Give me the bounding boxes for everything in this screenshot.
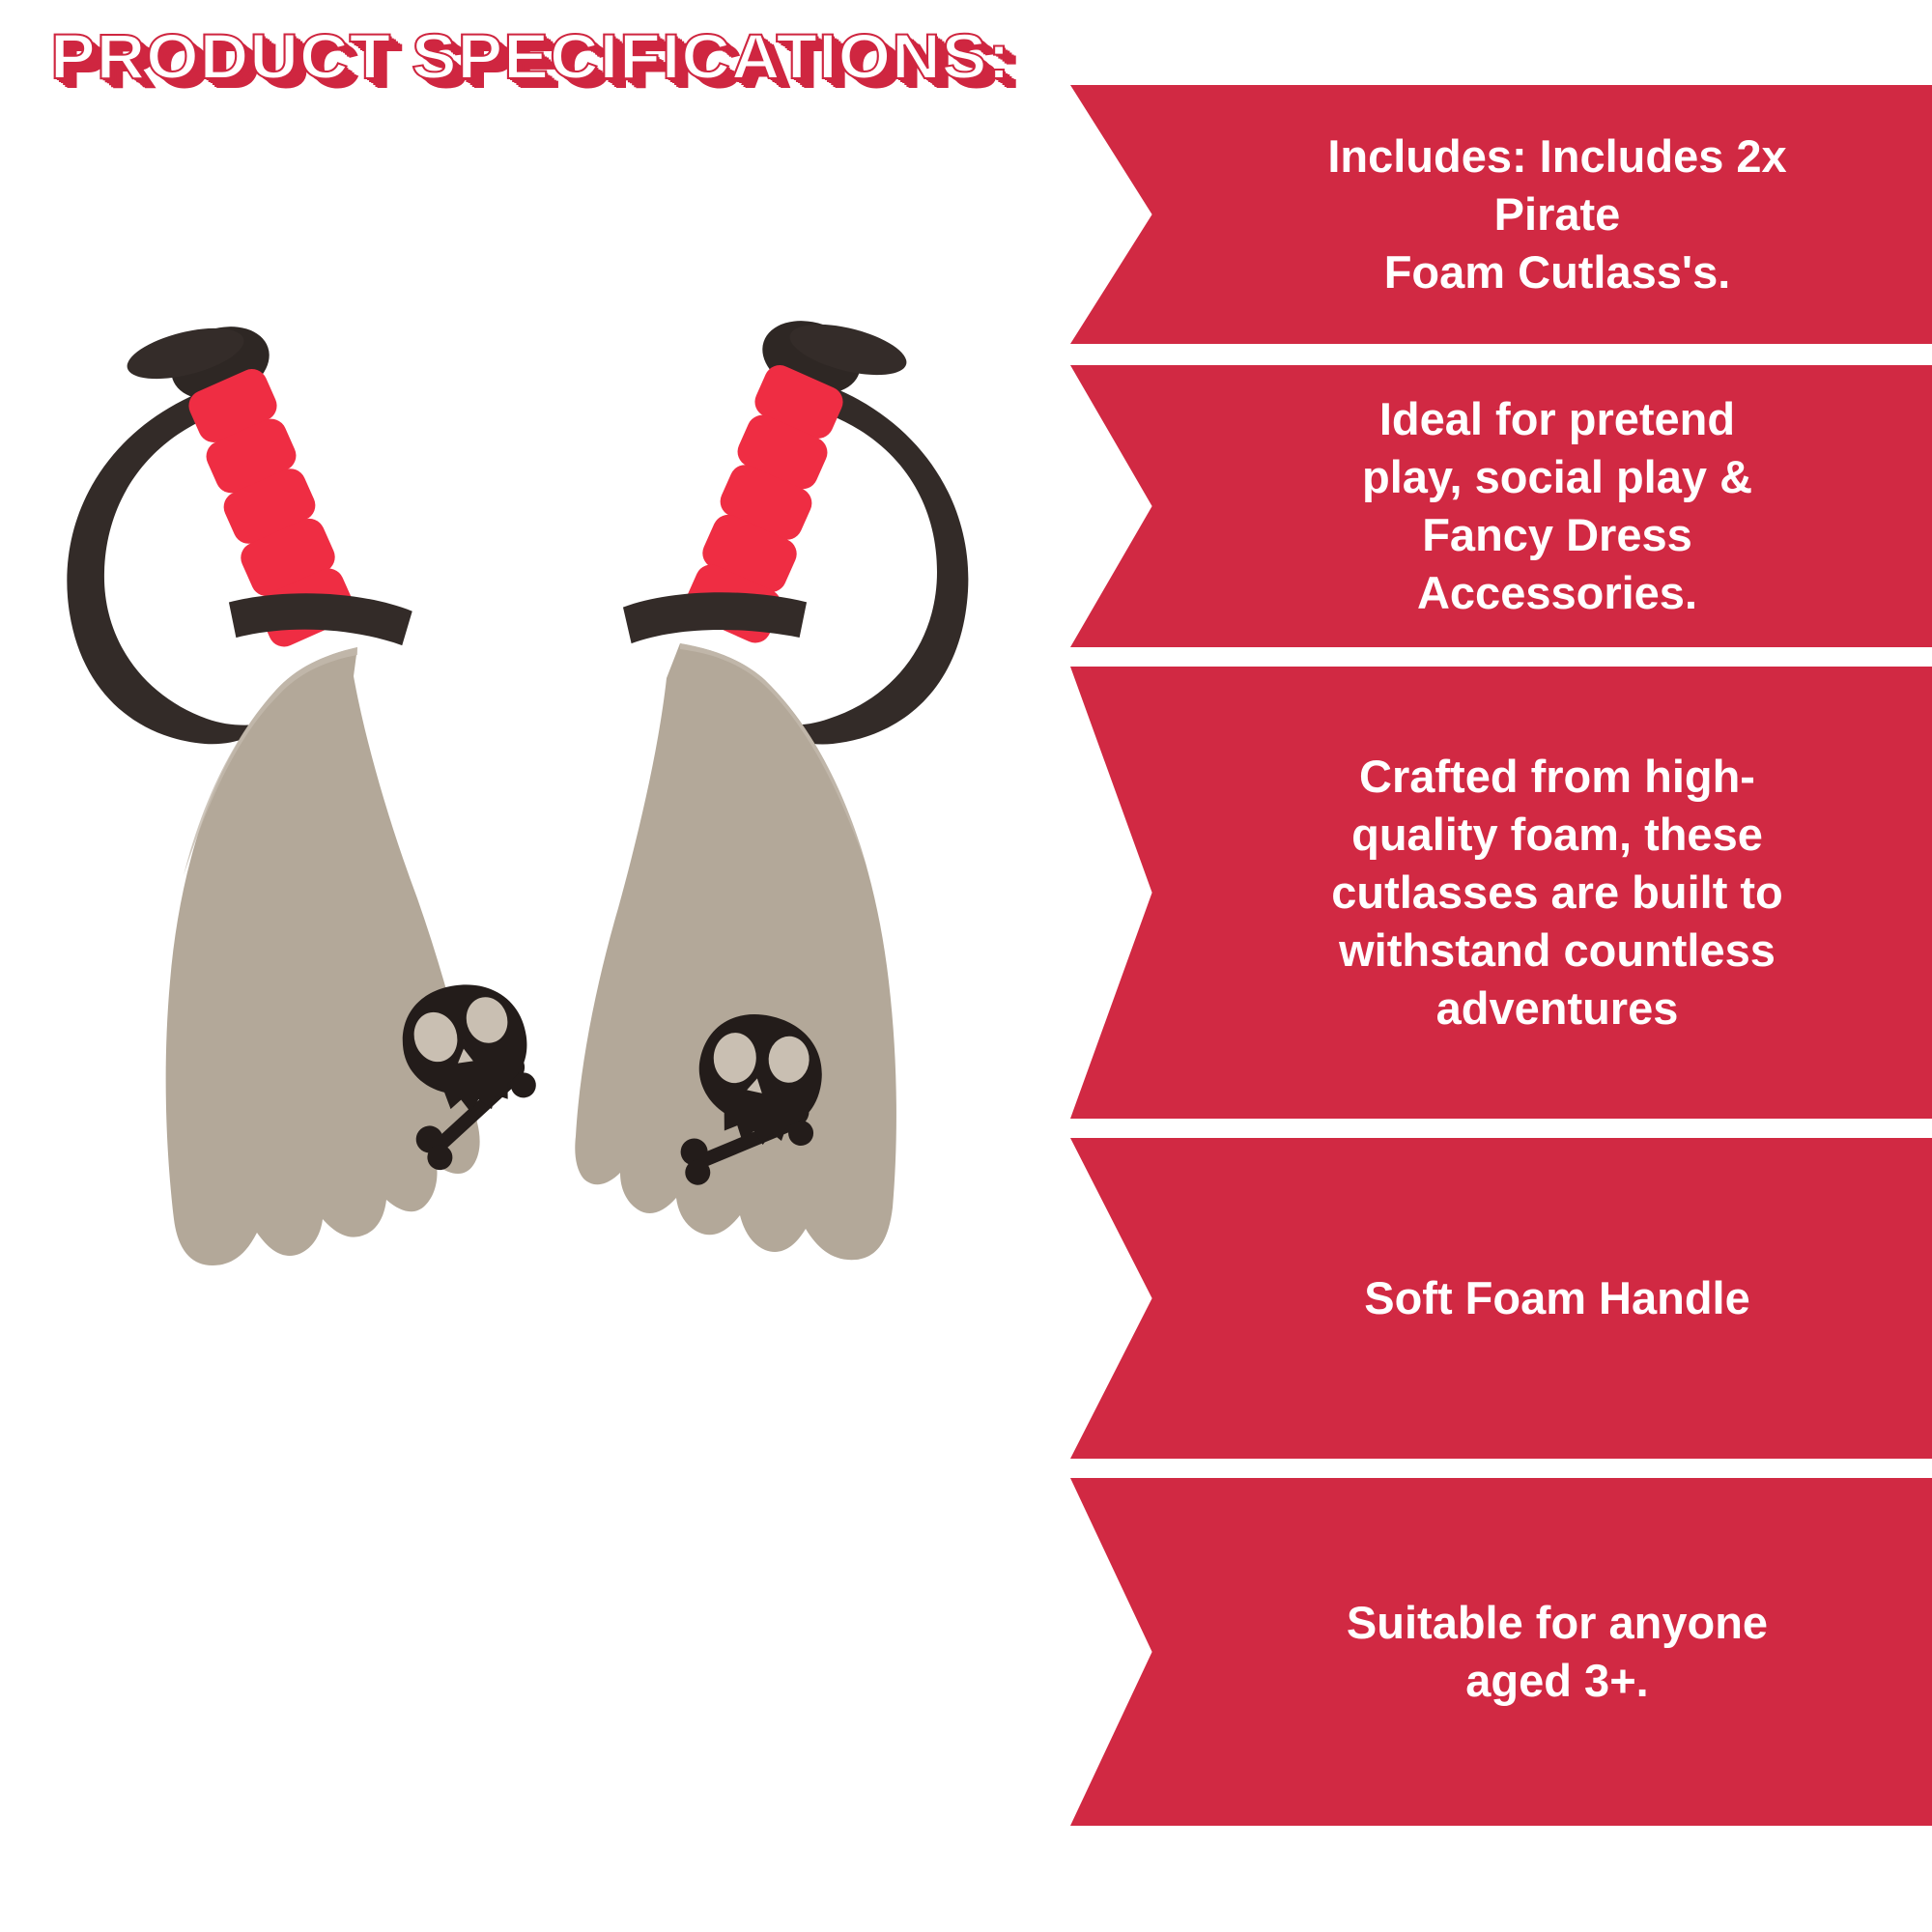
- product-image: [39, 290, 1024, 1333]
- specifications-banner-list: Includes: Includes 2x Pirate Foam Cutlas…: [1070, 0, 1932, 1932]
- product-specifications-page: PRODUCT SPECIFICATIONS:: [0, 0, 1932, 1932]
- cutlass-left: [67, 315, 546, 1265]
- spec-banner-text: Includes: Includes 2x Pirate Foam Cutlas…: [1287, 128, 1828, 301]
- spec-banner-text: Suitable for anyone aged 3+.: [1287, 1594, 1828, 1710]
- spec-banner-text: Crafted from high- quality foam, these c…: [1287, 748, 1828, 1037]
- spec-banner-soft-handle: Soft Foam Handle: [1070, 1138, 1932, 1459]
- spec-banner-crafted: Crafted from high- quality foam, these c…: [1070, 667, 1932, 1119]
- spec-banner-age: Suitable for anyone aged 3+.: [1070, 1478, 1932, 1826]
- spec-banner-includes: Includes: Includes 2x Pirate Foam Cutlas…: [1070, 85, 1932, 344]
- page-header: PRODUCT SPECIFICATIONS:: [50, 17, 1209, 104]
- spec-banner-ideal-for: Ideal for pretend play, social play & Fa…: [1070, 365, 1932, 647]
- cutlass-right: [575, 309, 968, 1260]
- spec-banner-text: Ideal for pretend play, social play & Fa…: [1287, 390, 1828, 622]
- spec-banner-text: Soft Foam Handle: [1287, 1269, 1828, 1327]
